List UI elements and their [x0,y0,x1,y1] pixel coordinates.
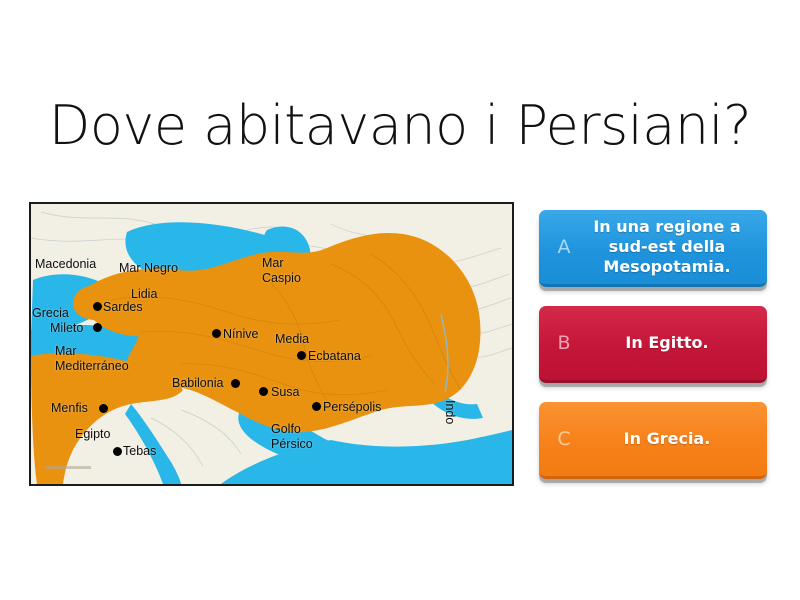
map-label-mar-caspio-line1: Mar [262,256,284,270]
map-label-golfo-persico: Golfo Pérsico [271,422,313,452]
map-label-susa: Susa [271,386,300,399]
answer-text-b: In Egitto. [581,333,757,353]
map-label-mar-caspio: Mar Caspio [262,256,301,286]
map-label-mar-caspio-line2: Caspio [262,271,301,285]
page-title: Dove abitavano i Persiani? [0,96,800,155]
city-dot-ninive [212,329,221,338]
answer-letter-c: C [547,428,581,450]
map-label-menfis: Menfis [51,402,88,415]
answer-letter-a: A [547,236,581,258]
answer-text-a: In una regione a sud-est della Mesopotam… [581,217,757,276]
map-label-persepolis: Persépolis [323,401,381,414]
answer-text-c: In Grecia. [581,429,757,449]
city-dot-susa [259,387,268,396]
city-dot-tebas [113,447,122,456]
city-dot-babilonia [231,379,240,388]
map-label-mileto: Mileto [50,322,83,335]
city-dot-mileto [93,323,102,332]
answer-letter-b: B [547,332,581,354]
map-label-mediterraneo-line1: Mar [55,344,77,358]
map-label-ecbatana: Ecbatana [308,350,361,363]
map-label-mar-mediterraneo: Mar Mediterráneo [55,344,129,374]
answer-option-b[interactable]: B In Egitto. [539,306,767,383]
map-label-mediterraneo-line2: Mediterráneo [55,359,129,373]
map-label-babilonia: Babilonia [172,377,223,390]
city-dot-menfis [99,404,108,413]
map-label-macedonia: Macedonia [35,258,96,271]
map-label-tebas: Tebas [123,445,156,458]
map-label-sardes: Sardes [103,301,143,314]
answer-option-c[interactable]: C In Grecia. [539,402,767,479]
map-label-mar-negro: Mar Negro [119,262,178,275]
map-label-ninive: Nínive [223,328,258,341]
city-dot-persepolis [312,402,321,411]
map-label-golfo-line2: Pérsico [271,437,313,451]
answer-option-a[interactable]: A In una regione a sud-est della Mesopot… [539,210,767,287]
map-label-egipto: Egipto [75,428,110,441]
map-label-golfo-line1: Golfo [271,422,301,436]
map-scale-bar [45,466,91,469]
map-image: Macedonia Mar Negro Lidia Sardes Grecia … [29,202,514,486]
city-dot-ecbatana [297,351,306,360]
map-label-media: Media [275,333,309,346]
city-dot-sardes [93,302,102,311]
map-label-grecia: Grecia [32,307,69,320]
map-label-lidia: Lidia [131,288,157,301]
map-label-indo: Indo [444,400,457,424]
